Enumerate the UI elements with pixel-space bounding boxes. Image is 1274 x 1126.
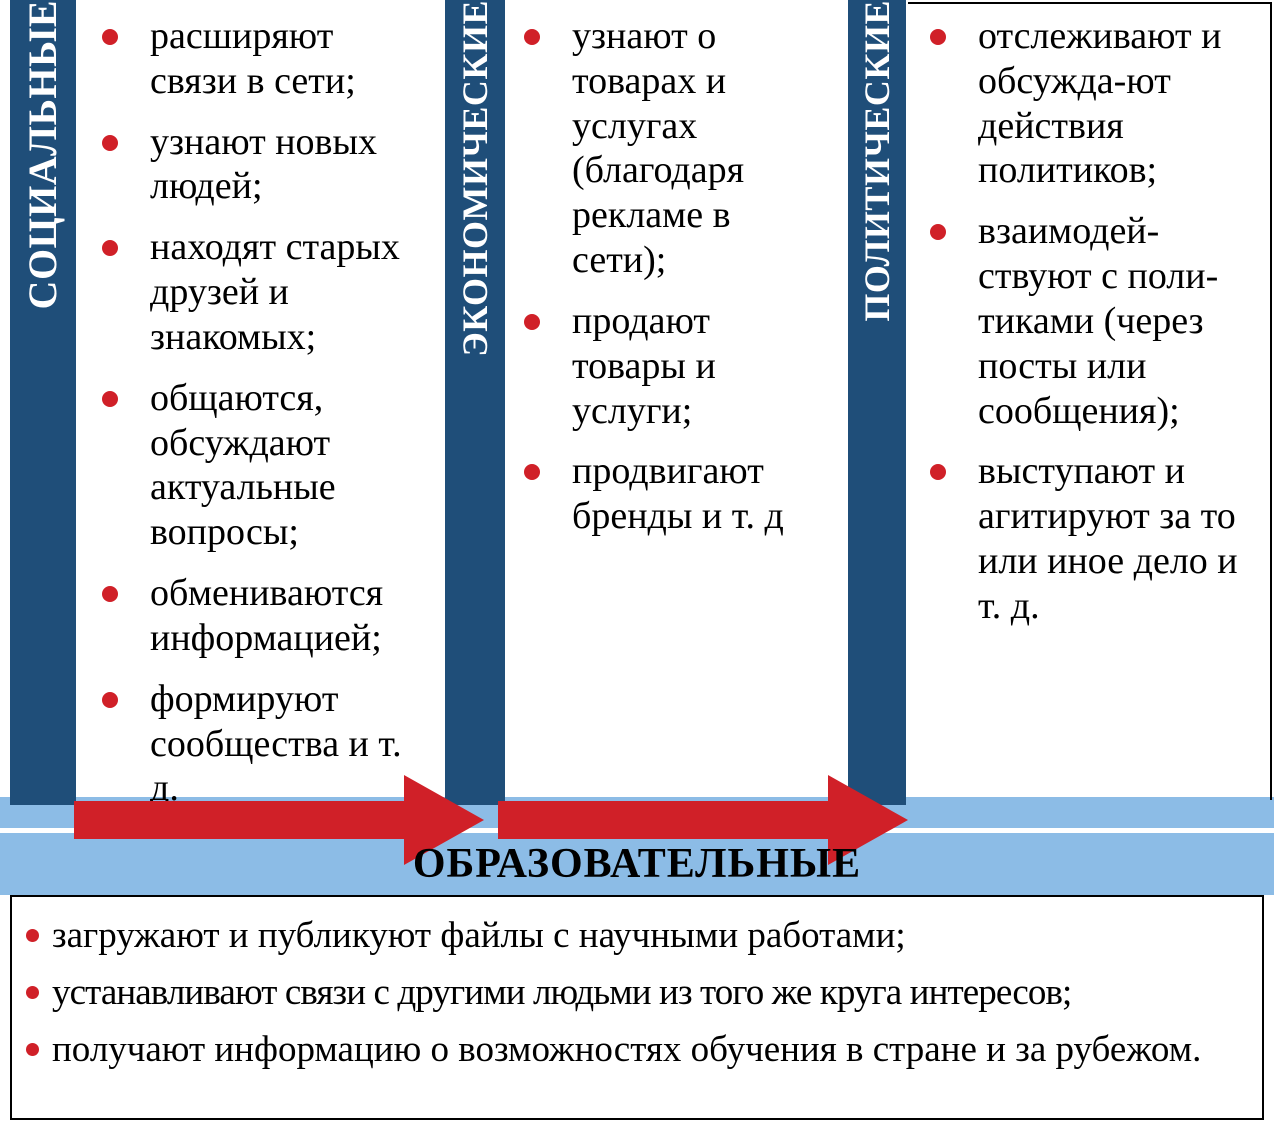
column-header-economic: ЭКОНОМИЧЕСКИЕ [445,0,505,805]
list-item-text: расширяют связи в сети; [150,15,356,102]
column-list-social: расширяют связи в сети; узнают новых люд… [88,14,418,827]
list-item: расширяют связи в сети; [88,14,418,104]
infographic-canvas: СОЦИАЛЬНЫЕ расширяют связи в сети; узнаю… [0,0,1274,1126]
list-item: получают информацию о возможностях обуче… [24,1026,1244,1075]
column-header-economic-label: ЭКОНОМИЧЕСКИЕ [457,0,493,361]
list-item: общаются, обсуждают актуальные вопросы; [88,376,418,555]
column-list-political: отслеживают и обсужда-ют действия полити… [916,14,1266,645]
bullet-dot-icon [26,929,39,942]
bullet-dot-icon [930,464,946,480]
bullet-dot-icon [102,135,118,151]
list-item: отслеживают и обсужда-ют действия полити… [916,14,1266,193]
bullet-dot-icon [26,1043,39,1056]
bullet-dot-icon [102,692,118,708]
list-item: обмениваются информацией; [88,571,418,661]
column-header-political: ПОЛИТИЧЕСКИЕ [848,0,906,805]
column-header-political-label: ПОЛИТИЧЕСКИЕ [859,0,895,326]
list-item: выступают и агитируют за то или иное дел… [916,449,1266,628]
list-item-text: обмениваются информацией; [150,572,383,659]
column-list-economic: узнают о товарах и услугах (благодаря ре… [510,14,830,555]
list-item: узнают о товарах и услугах (благодаря ре… [510,14,830,283]
list-item-text: взаимодей-ствуют с поли-тиками (через по… [978,210,1218,431]
bullet-dot-icon [524,29,540,45]
list-item-text: продвигают бренды и т. д [572,450,784,537]
list-item-text: отслеживают и обсужда-ют действия полити… [978,15,1222,191]
list-item: устанавливают связи с другими людьми из … [24,969,1244,1018]
list-item: продают товары и услуги; [510,299,830,433]
bullet-dot-icon [102,240,118,256]
column-header-social: СОЦИАЛЬНЫЕ [10,0,76,805]
bullet-dot-icon [102,29,118,45]
list-item: узнают новых людей; [88,120,418,210]
list-item: находят старых друзей и знакомых; [88,225,418,359]
list-item: взаимодей-ствуют с поли-тиками (через по… [916,209,1266,433]
education-banner-title: ОБРАЗОВАТЕЛЬНЫЕ [0,833,1274,895]
bullet-dot-icon [930,224,946,240]
list-item-text: выступают и агитируют за то или иное дел… [978,450,1238,626]
column-header-social-label: СОЦИАЛЬНЫЕ [23,0,63,313]
bullet-dot-icon [26,986,39,999]
bullet-dot-icon [930,29,946,45]
list-item-text: получают информацию о возможностях обуче… [52,1029,1201,1070]
list-item: загружают и публикуют файлы с научными р… [24,912,1244,961]
education-list: загружают и публикуют файлы с научными р… [24,912,1244,1082]
list-item-text: загружают и публикуют файлы с научными р… [52,915,906,956]
list-item: продвигают бренды и т. д [510,449,830,539]
bullet-dot-icon [102,391,118,407]
bullet-dot-icon [102,586,118,602]
list-item-text: узнают о товарах и услугах (благодаря ре… [572,15,744,281]
list-item-text: продают товары и услуги; [572,300,716,432]
list-item-text: устанавливают связи с другими людьми из … [52,972,1071,1013]
list-item-text: общаются, обсуждают актуальные вопросы; [150,377,336,553]
list-item-text: узнают новых людей; [150,121,377,208]
bullet-dot-icon [524,314,540,330]
bullet-dot-icon [524,464,540,480]
list-item-text: находят старых друзей и знакомых; [150,226,400,358]
